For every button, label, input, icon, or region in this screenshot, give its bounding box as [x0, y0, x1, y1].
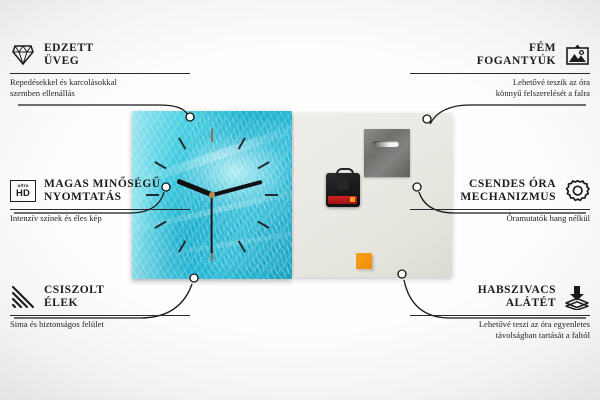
picture-frame-icon: [564, 42, 590, 68]
callout-header: CSENDES ÓRA MECHANIZMUS: [410, 176, 590, 206]
ultra-hd-main-label: HD: [16, 189, 30, 199]
callout-tempered-glass[interactable]: EDZETT ÜVEG Repedésekkel és karcolásokka…: [10, 40, 190, 99]
callout-metal-handles[interactable]: FÉM FOGANTYÚK Lehetővé teszik az óra kön…: [410, 40, 590, 99]
mechanism-shaft: [337, 179, 349, 190]
metal-hanger: [364, 129, 410, 177]
clock-tick: [178, 240, 186, 252]
callout-header: CSISZOLT ÉLEK: [10, 282, 190, 312]
callout-divider: [410, 209, 590, 210]
clock-minute-hand: [212, 180, 263, 197]
clock-tick: [238, 137, 246, 149]
callout-title: MAGAS MINŐSÉGŰ NYOMTATÁS: [44, 178, 161, 204]
callout-divider: [410, 315, 590, 316]
callout-description: Óramutatók hang nélkül: [410, 213, 590, 224]
callout-high-quality-print[interactable]: ultra HD MAGAS MINŐSÉGŰ NYOMTATÁS Intenz…: [10, 176, 190, 224]
infographic-canvas: EDZETT ÜVEG Repedésekkel és karcolásokka…: [0, 0, 600, 400]
clock-tick: [265, 194, 278, 196]
clock-center-hub: [209, 192, 215, 198]
connector-metal-handles: [430, 105, 586, 124]
gear-icon: [564, 178, 590, 204]
callout-description: Repedésekkel és karcolásokkal szemben el…: [10, 77, 190, 99]
callout-title: CSISZOLT ÉLEK: [44, 284, 104, 310]
battery-terminal: [350, 197, 355, 202]
callout-divider: [10, 315, 190, 316]
clock-tick: [257, 221, 269, 229]
clock-tick: [154, 161, 166, 169]
callout-title: EDZETT ÜVEG: [44, 42, 94, 68]
callout-title: FÉM FOGANTYÚK: [477, 42, 556, 68]
mechanism-loop: [336, 168, 354, 178]
callout-divider: [10, 73, 190, 74]
callout-divider: [10, 209, 190, 210]
hanger-slot: [373, 141, 399, 147]
callout-divider: [410, 73, 590, 74]
callout-description: Intenzív színek és éles kép: [10, 213, 190, 224]
polished-edges-icon: [10, 284, 36, 310]
clock-mechanism: [326, 173, 360, 207]
diamond-icon: [10, 42, 36, 68]
callout-header: EDZETT ÜVEG: [10, 40, 190, 70]
clock-second-hand: [211, 195, 213, 253]
ultra-hd-icon: ultra HD: [10, 178, 36, 204]
callout-description: Lehetővé teszi az óra egyenletes távolsá…: [410, 319, 590, 341]
callout-header: HABSZIVACS ALÁTÉT: [410, 282, 590, 312]
callout-silent-mechanism[interactable]: CSENDES ÓRA MECHANIZMUS Óramutatók hang …: [410, 176, 590, 224]
battery: [328, 196, 357, 204]
callout-foam-pad[interactable]: HABSZIVACS ALÁTÉT Lehetővé teszi az óra …: [410, 282, 590, 341]
clock-tick: [211, 129, 213, 142]
callout-description: Lehetővé teszik az óra könnyű felszerelé…: [410, 77, 590, 99]
callout-title: CSENDES ÓRA MECHANIZMUS: [460, 178, 556, 204]
callout-description: Sima és biztonságos felület: [10, 319, 190, 330]
clock-tick: [257, 161, 269, 169]
foam-pad: [356, 253, 372, 269]
clock-tick: [238, 240, 246, 252]
callout-header: ultra HD MAGAS MINŐSÉGŰ NYOMTATÁS: [10, 176, 190, 206]
foam-pad-arrow-icon: [564, 284, 590, 310]
clock-tick: [178, 137, 186, 149]
callout-polished-edges[interactable]: CSISZOLT ÉLEK Sima és biztonságos felüle…: [10, 282, 190, 330]
callout-title: HABSZIVACS ALÁTÉT: [478, 284, 556, 310]
callout-header: FÉM FOGANTYÚK: [410, 40, 590, 70]
